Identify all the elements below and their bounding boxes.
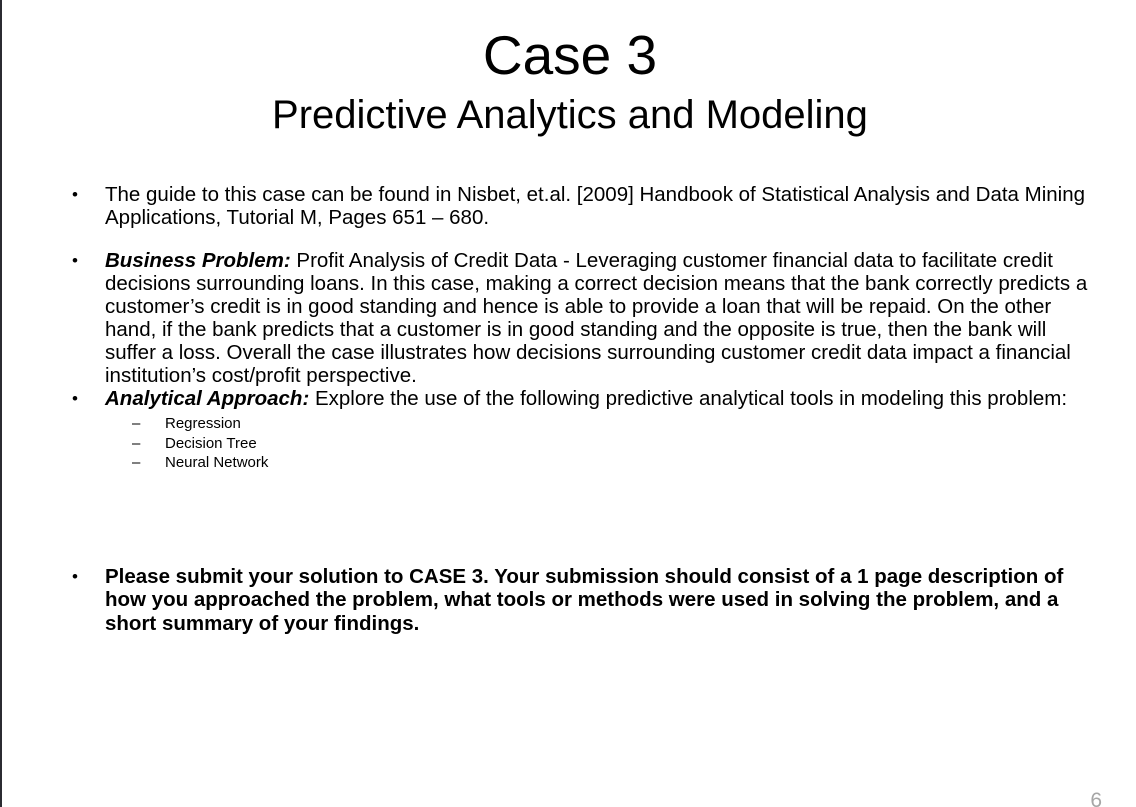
sub-bullet-item-decision-tree: – Decision Tree bbox=[62, 434, 1097, 454]
bullet-item-business-problem: • Business Problem: Profit Analysis of C… bbox=[62, 249, 1097, 387]
bullet-text-business-problem: Business Problem: Profit Analysis of Cre… bbox=[105, 249, 1097, 387]
bullet-marker-icon: • bbox=[62, 387, 105, 410]
page-title: Case 3 bbox=[2, 24, 1136, 86]
spacer-after-reference bbox=[62, 229, 1097, 249]
sub-bullet-label-neural-network: Neural Network bbox=[165, 453, 1097, 473]
sub-bullet-label-decision-tree: Decision Tree bbox=[165, 434, 1097, 454]
bullet-item-analytical-approach: • Analytical Approach: Explore the use o… bbox=[62, 387, 1097, 410]
bullet-item-reference: • The guide to this case can be found in… bbox=[62, 183, 1097, 229]
sub-bullet-item-regression: – Regression bbox=[62, 414, 1097, 434]
sub-bullet-marker-icon: – bbox=[132, 453, 165, 473]
slide-page: Case 3 Predictive Analytics and Modeling… bbox=[0, 0, 1136, 807]
spacer-before-submission bbox=[62, 473, 1097, 565]
sub-bullet-marker-icon: – bbox=[132, 434, 165, 454]
slide-body: • The guide to this case can be found in… bbox=[62, 183, 1097, 635]
business-problem-label: Business Problem: bbox=[105, 249, 291, 272]
sub-bullet-item-neural-network: – Neural Network bbox=[62, 453, 1097, 473]
bullet-text-reference: The guide to this case can be found in N… bbox=[105, 183, 1097, 229]
bullet-text-submission: Please submit your solution to CASE 3. Y… bbox=[105, 565, 1097, 636]
analytical-approach-label: Analytical Approach: bbox=[105, 387, 309, 410]
analytical-approach-body: Explore the use of the following predict… bbox=[309, 387, 1067, 410]
sub-bullet-marker-icon: – bbox=[132, 414, 165, 434]
bullet-marker-icon: • bbox=[62, 565, 105, 588]
bullet-item-submission: • Please submit your solution to CASE 3.… bbox=[62, 565, 1097, 636]
bullet-marker-icon: • bbox=[62, 249, 105, 272]
sub-bullet-label-regression: Regression bbox=[165, 414, 1097, 434]
bullet-text-analytical-approach: Analytical Approach: Explore the use of … bbox=[105, 387, 1097, 410]
page-number: 6 bbox=[1090, 789, 1102, 807]
page-subtitle: Predictive Analytics and Modeling bbox=[2, 90, 1136, 140]
title-block: Case 3 Predictive Analytics and Modeling bbox=[2, 24, 1136, 140]
bullet-marker-icon: • bbox=[62, 183, 105, 206]
